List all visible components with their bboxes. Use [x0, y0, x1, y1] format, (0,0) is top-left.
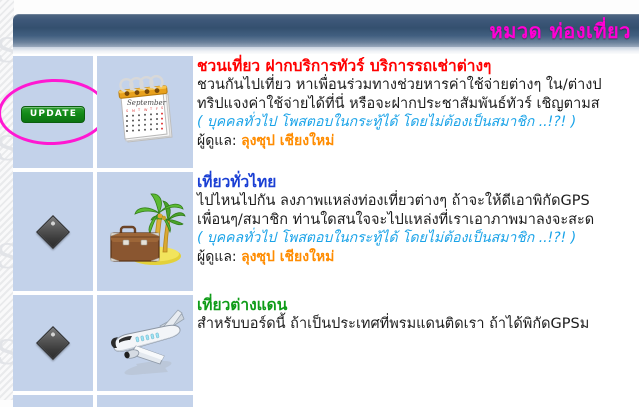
row-icon-cell: September SMT WTFS	[97, 52, 197, 168]
update-badge[interactable]: UPDATE	[21, 106, 85, 123]
topic-owner-row: ผู้ดูแล: ลุงซุป เชียงใหม่	[197, 248, 639, 266]
owner-name[interactable]: ลุงซุป เชียงใหม่	[241, 133, 334, 149]
svg-text:S: S	[126, 109, 128, 113]
diamond-icon	[36, 215, 70, 249]
topic-description-line: สำหรับบอร์ดนี้ ถ้าเป็นประเทศที่พรมแดนติด…	[197, 315, 639, 334]
topic-owner-row: ผู้ดูแล: ลุงซุป เชียงใหม่	[197, 132, 639, 150]
row-icon-cell	[97, 291, 197, 391]
row-content-cell: เที่ยวทั่วไทย ไปไหนไปกัน ลงภาพแหล่งท่องเ…	[197, 168, 639, 291]
category-header-bar: หมวด ท่องเที่ยว	[13, 14, 639, 47]
header-underline	[13, 47, 639, 54]
owner-name[interactable]: ลุงซุป เชียงใหม่	[241, 249, 334, 265]
update-badge-wrap[interactable]: UPDATE	[21, 101, 85, 123]
topic-note: ( บุคคลทั่วไป โพสตอบในกระทู้ได้ โดยไม่ต้…	[197, 113, 639, 131]
svg-text:F: F	[156, 107, 158, 111]
row-icon-cell	[97, 391, 197, 407]
topic-description-line: ทริปแจงค่าใช้จ่ายได้ที่นี่ หรือจะฝากประช…	[197, 95, 639, 114]
topic-title[interactable]: เที่ยวต่างแดน	[197, 296, 639, 315]
calendar-icon: September SMT WTFS	[108, 75, 182, 149]
forum-board-table: UPDATE September	[13, 52, 639, 407]
row-content-cell	[197, 391, 639, 407]
table-row[interactable]	[13, 391, 639, 407]
owner-label: ผู้ดูแล:	[197, 249, 237, 265]
row-content-cell: เที่ยวต่างแดน สำหรับบอร์ดนี้ ถ้าเป็นประเ…	[197, 291, 639, 391]
svg-text:S: S	[161, 106, 163, 110]
topic-description-line: เพื่อนๆ/สมาชิก ท่านใดสนใจจะไปแหล่งที่เรา…	[197, 211, 639, 230]
table-row[interactable]: UPDATE September	[13, 52, 639, 168]
topic-title[interactable]: ชวนเที่ยว ฝากบริการทัวร์ บริการรถเช่าต่า…	[197, 57, 639, 76]
row-flag-cell[interactable]: UPDATE	[13, 52, 97, 168]
owner-label: ผู้ดูแล:	[197, 133, 237, 149]
diamond-icon	[36, 326, 70, 360]
row-flag-cell[interactable]	[13, 291, 97, 391]
svg-text:M: M	[132, 109, 135, 113]
row-content-cell: ชวนเที่ยว ฝากบริการทัวร์ บริการรถเช่าต่า…	[197, 52, 639, 168]
topic-description-line: ชวนกันไปเที่ยว หาเพื่อนร่วมทางช่วยหารค่า…	[197, 76, 639, 95]
table-row[interactable]: เที่ยวทั่วไทย ไปไหนไปกัน ลงภาพแหล่งท่องเ…	[13, 168, 639, 291]
topic-note: ( บุคคลทั่วไป โพสตอบในกระทู้ได้ โดยไม่ต้…	[197, 229, 639, 247]
row-flag-cell[interactable]	[13, 168, 97, 291]
row-flag-cell[interactable]	[13, 391, 97, 407]
row-icon-cell	[97, 168, 197, 291]
table-row[interactable]: เที่ยวต่างแดน สำหรับบอร์ดนี้ ถ้าเป็นประเ…	[13, 291, 639, 391]
airplane-icon	[102, 304, 188, 382]
topic-title[interactable]: เที่ยวทั่วไทย	[197, 173, 639, 192]
page-title: หมวด ท่องเที่ยว	[490, 15, 631, 47]
palm-suitcase-icon	[103, 190, 187, 274]
topic-description-line: ไปไหนไปกัน ลงภาพแหล่งท่องเที่ยวต่างๆ ถ้า…	[197, 192, 639, 211]
